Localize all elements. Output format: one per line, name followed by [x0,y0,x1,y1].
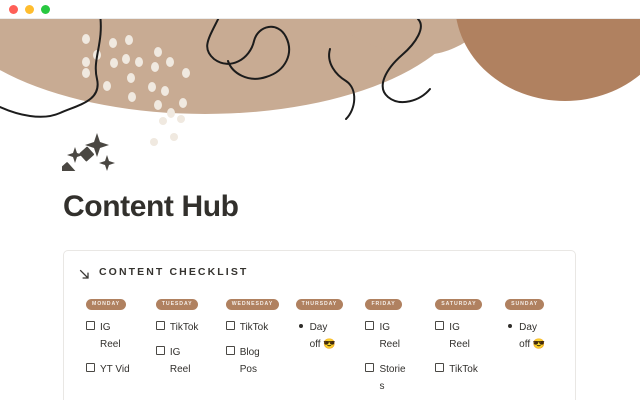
checklist-items: IG ReelYT Vid [86,319,156,378]
checklist-column: SUNDAYDay off 😎 [505,292,575,400]
checklist-item-label: Day off 😎 [310,319,341,353]
cover-banner[interactable] [0,19,640,171]
checklist-item-label: TikTok [240,319,269,336]
checklist-column: SATURDAYIG ReelTikTok [435,292,505,400]
checklist-item[interactable]: TikTok [156,319,201,336]
content-checklist-card: CONTENT CHECKLIST MONDAYIG ReelYT VidTUE… [63,250,576,400]
checkbox-input[interactable] [86,363,95,372]
banner-artwork [0,19,640,171]
checklist-item-label: TikTok [170,319,199,336]
checklist-column: TUESDAYTikTokIG Reel [156,292,226,400]
checklist-item-label: IG Reel [170,344,201,378]
window-titlebar [0,0,640,19]
checklist-item-label: Blog Pos [240,344,271,378]
checklist-item[interactable]: YT Vid [86,361,131,378]
checklist-item[interactable]: IG Reel [86,319,131,353]
dark-blob-shape [455,19,640,101]
checklist-item[interactable]: Stories [365,361,410,395]
checklist-item[interactable]: IG Reel [365,319,410,353]
checklist-item-label: YT Vid [100,361,130,378]
page-title: Content Hub [63,190,239,224]
checklist-item[interactable]: IG Reel [435,319,480,353]
checklist-item[interactable]: Day off 😎 [505,319,550,353]
checklist-title: CONTENT CHECKLIST [99,266,248,278]
day-badge[interactable]: WEDNESDAY [226,299,279,310]
checkbox-input[interactable] [156,346,165,355]
checklist-item[interactable]: Blog Pos [226,344,271,378]
day-badge[interactable]: THURSDAY [296,299,344,310]
checklist-items: Day off 😎 [296,319,366,353]
minimize-button[interactable] [25,5,34,14]
day-badge[interactable]: SUNDAY [505,299,544,310]
bullet-icon [508,324,512,328]
checklist-items: TikTokIG Reel [156,319,226,378]
checklist-columns: MONDAYIG ReelYT VidTUESDAYTikTokIG ReelW… [64,278,575,400]
day-badge[interactable]: FRIDAY [365,299,401,310]
checklist-header: CONTENT CHECKLIST [64,251,575,278]
checklist-item[interactable]: TikTok [435,361,480,378]
checklist-column: MONDAYIG ReelYT Vid [86,292,156,400]
checkbox-input[interactable] [86,321,95,330]
checklist-items: IG ReelStories [365,319,435,395]
checklist-item[interactable]: IG Reel [156,344,201,378]
checklist-item-label: IG Reel [379,319,410,353]
day-badge[interactable]: MONDAY [86,299,126,310]
checklist-item-label: TikTok [449,361,478,378]
checkbox-input[interactable] [156,321,165,330]
checklist-item-label: IG Reel [449,319,480,353]
checkbox-input[interactable] [365,363,374,372]
checklist-items: IG ReelTikTok [435,319,505,378]
close-button[interactable] [9,5,18,14]
checklist-items: Day off 😎 [505,319,575,353]
day-badge[interactable]: TUESDAY [156,299,199,310]
checkbox-input[interactable] [226,321,235,330]
checklist-item-label: Day off 😎 [519,319,550,353]
bullet-icon [299,324,303,328]
checklist-item[interactable]: Day off 😎 [296,319,341,353]
day-badge[interactable]: SATURDAY [435,299,482,310]
checklist-column: FRIDAYIG ReelStories [365,292,435,400]
checkbox-input[interactable] [435,321,444,330]
maximize-button[interactable] [41,5,50,14]
checklist-item[interactable]: TikTok [226,319,271,336]
checklist-column: THURSDAYDay off 😎 [296,292,366,400]
checkbox-input[interactable] [365,321,374,330]
checkbox-input[interactable] [226,346,235,355]
checkbox-input[interactable] [435,363,444,372]
arrow-down-right-icon [79,267,90,278]
checklist-items: TikTokBlog Pos [226,319,296,378]
checklist-item-label: IG Reel [100,319,131,353]
checklist-item-label: Stories [379,361,410,395]
app-window: Content Hub CONTENT CHECKLIST MONDAYIG R… [0,0,640,400]
checklist-column: WEDNESDAYTikTokBlog Pos [226,292,296,400]
